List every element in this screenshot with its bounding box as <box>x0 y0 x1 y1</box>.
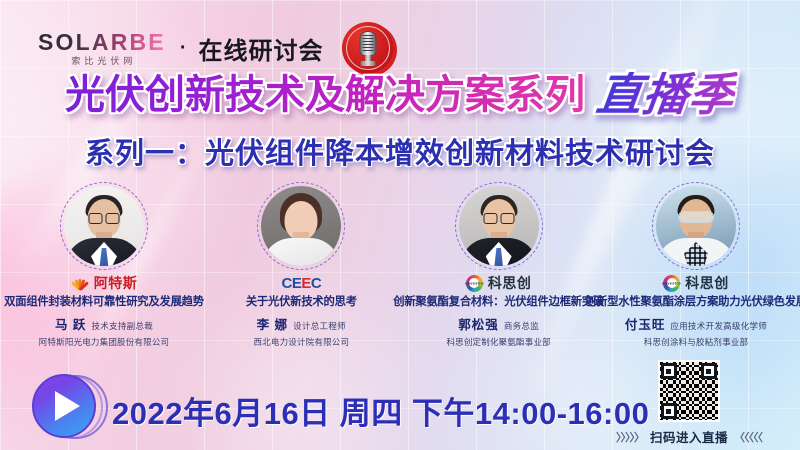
qr-section: 〉〉〉〉〉 扫码进入直播 〈〈〈〈〈 <box>616 360 762 446</box>
talk-title: 创新聚氨酯复合材料：光伏组件边框新突破 <box>393 296 604 310</box>
title-tag-badge: 直播季 <box>594 72 738 117</box>
page-subtitle: 系列一：光伏组件降本增效创新材料技术研讨会 <box>0 130 800 172</box>
speaker-name: 付玉旺 <box>625 314 666 333</box>
brand-name: 科思创 <box>685 273 729 293</box>
header-brand-bar: SOLARBE 索比光伏网 · 在线研讨会 <box>38 22 394 74</box>
speaker-brand-logo: covestro 科思创 <box>663 272 729 294</box>
avatar <box>652 182 740 270</box>
avatar <box>257 182 345 270</box>
header-series-label: 在线研讨会 <box>199 31 324 66</box>
speaker-org: 阿特斯阳光电力集团股份有限公司 <box>39 336 170 348</box>
covestro-ring-icon: covestro <box>466 275 483 292</box>
solarbe-logo-subtext: 索比光伏网 <box>67 57 136 66</box>
solarbe-logo: SOLARBE 索比光伏网 <box>38 31 166 66</box>
qr-caption: 扫码进入直播 <box>650 427 728 446</box>
talk-title: 关于光伏新技术的思考 <box>246 296 357 310</box>
ceec-logo-icon: CEEC <box>281 275 321 292</box>
sunburst-icon <box>71 276 89 290</box>
speaker-card: 阿特斯 双面组件封装材料可靠性研究及发展趋势 马 跃 技术支持副总裁 阿特斯阳光… <box>6 182 202 348</box>
event-datetime: 2022年6月16日 周四 下午14:00-16:00 <box>112 388 649 433</box>
speaker-list: 阿特斯 双面组件封装材料可靠性研究及发展趋势 马 跃 技术支持副总裁 阿特斯阳光… <box>0 182 800 348</box>
speaker-role: 设计总工程师 <box>293 320 346 332</box>
speaker-name: 郭松强 <box>458 314 499 333</box>
speaker-brand-logo: 阿特斯 <box>71 272 138 294</box>
arrows-left-decoration: 〉〉〉〉〉 <box>616 429 644 445</box>
speaker-card: covestro 科思创 创新聚氨酯复合材料：光伏组件边框新突破 郭松强 商务总… <box>401 182 597 348</box>
speaker-card: CEEC 关于光伏新技术的思考 李 娜 设计总工程师 西北电力设计院有限公司 <box>203 182 399 348</box>
speaker-name: 马 跃 <box>55 314 86 333</box>
avatar <box>60 182 148 270</box>
brand-name: 阿特斯 <box>94 273 138 293</box>
talk-title: 创新型水性聚氨酯涂层方案助力光伏绿色发展 <box>585 296 800 310</box>
microphone-icon <box>342 22 394 74</box>
speaker-brand-logo: covestro 科思创 <box>466 272 532 294</box>
speaker-brand-logo: CEEC <box>281 272 321 294</box>
speaker-card: covestro 科思创 创新型水性聚氨酯涂层方案助力光伏绿色发展 付玉旺 应用… <box>598 182 794 348</box>
talk-title: 双面组件封装材料可靠性研究及发展趋势 <box>4 296 204 310</box>
header-separator: · <box>180 37 187 60</box>
speaker-org: 科思创涂料与胶粘剂事业部 <box>644 336 748 348</box>
arrows-right-decoration: 〈〈〈〈〈 <box>734 429 762 445</box>
speaker-role: 技术支持副总裁 <box>91 320 153 332</box>
page-title: 光伏创新技术及解决方案系列 <box>65 73 585 117</box>
speaker-role: 商务总监 <box>504 320 539 332</box>
avatar <box>455 182 543 270</box>
play-button-icon[interactable] <box>32 374 98 440</box>
solarbe-logo-text: SOLARBE <box>38 31 166 54</box>
speaker-role: 应用技术开发高级化学师 <box>670 320 767 332</box>
qr-code-icon[interactable] <box>658 360 720 422</box>
speaker-org: 科思创定制化聚氨酯事业部 <box>446 336 550 348</box>
brand-name: 科思创 <box>488 273 532 293</box>
main-title-row: 光伏创新技术及解决方案系列 直播季 <box>0 72 800 117</box>
covestro-ring-icon: covestro <box>663 275 680 292</box>
speaker-name: 李 娜 <box>257 314 288 333</box>
speaker-org: 西北电力设计院有限公司 <box>253 336 349 348</box>
